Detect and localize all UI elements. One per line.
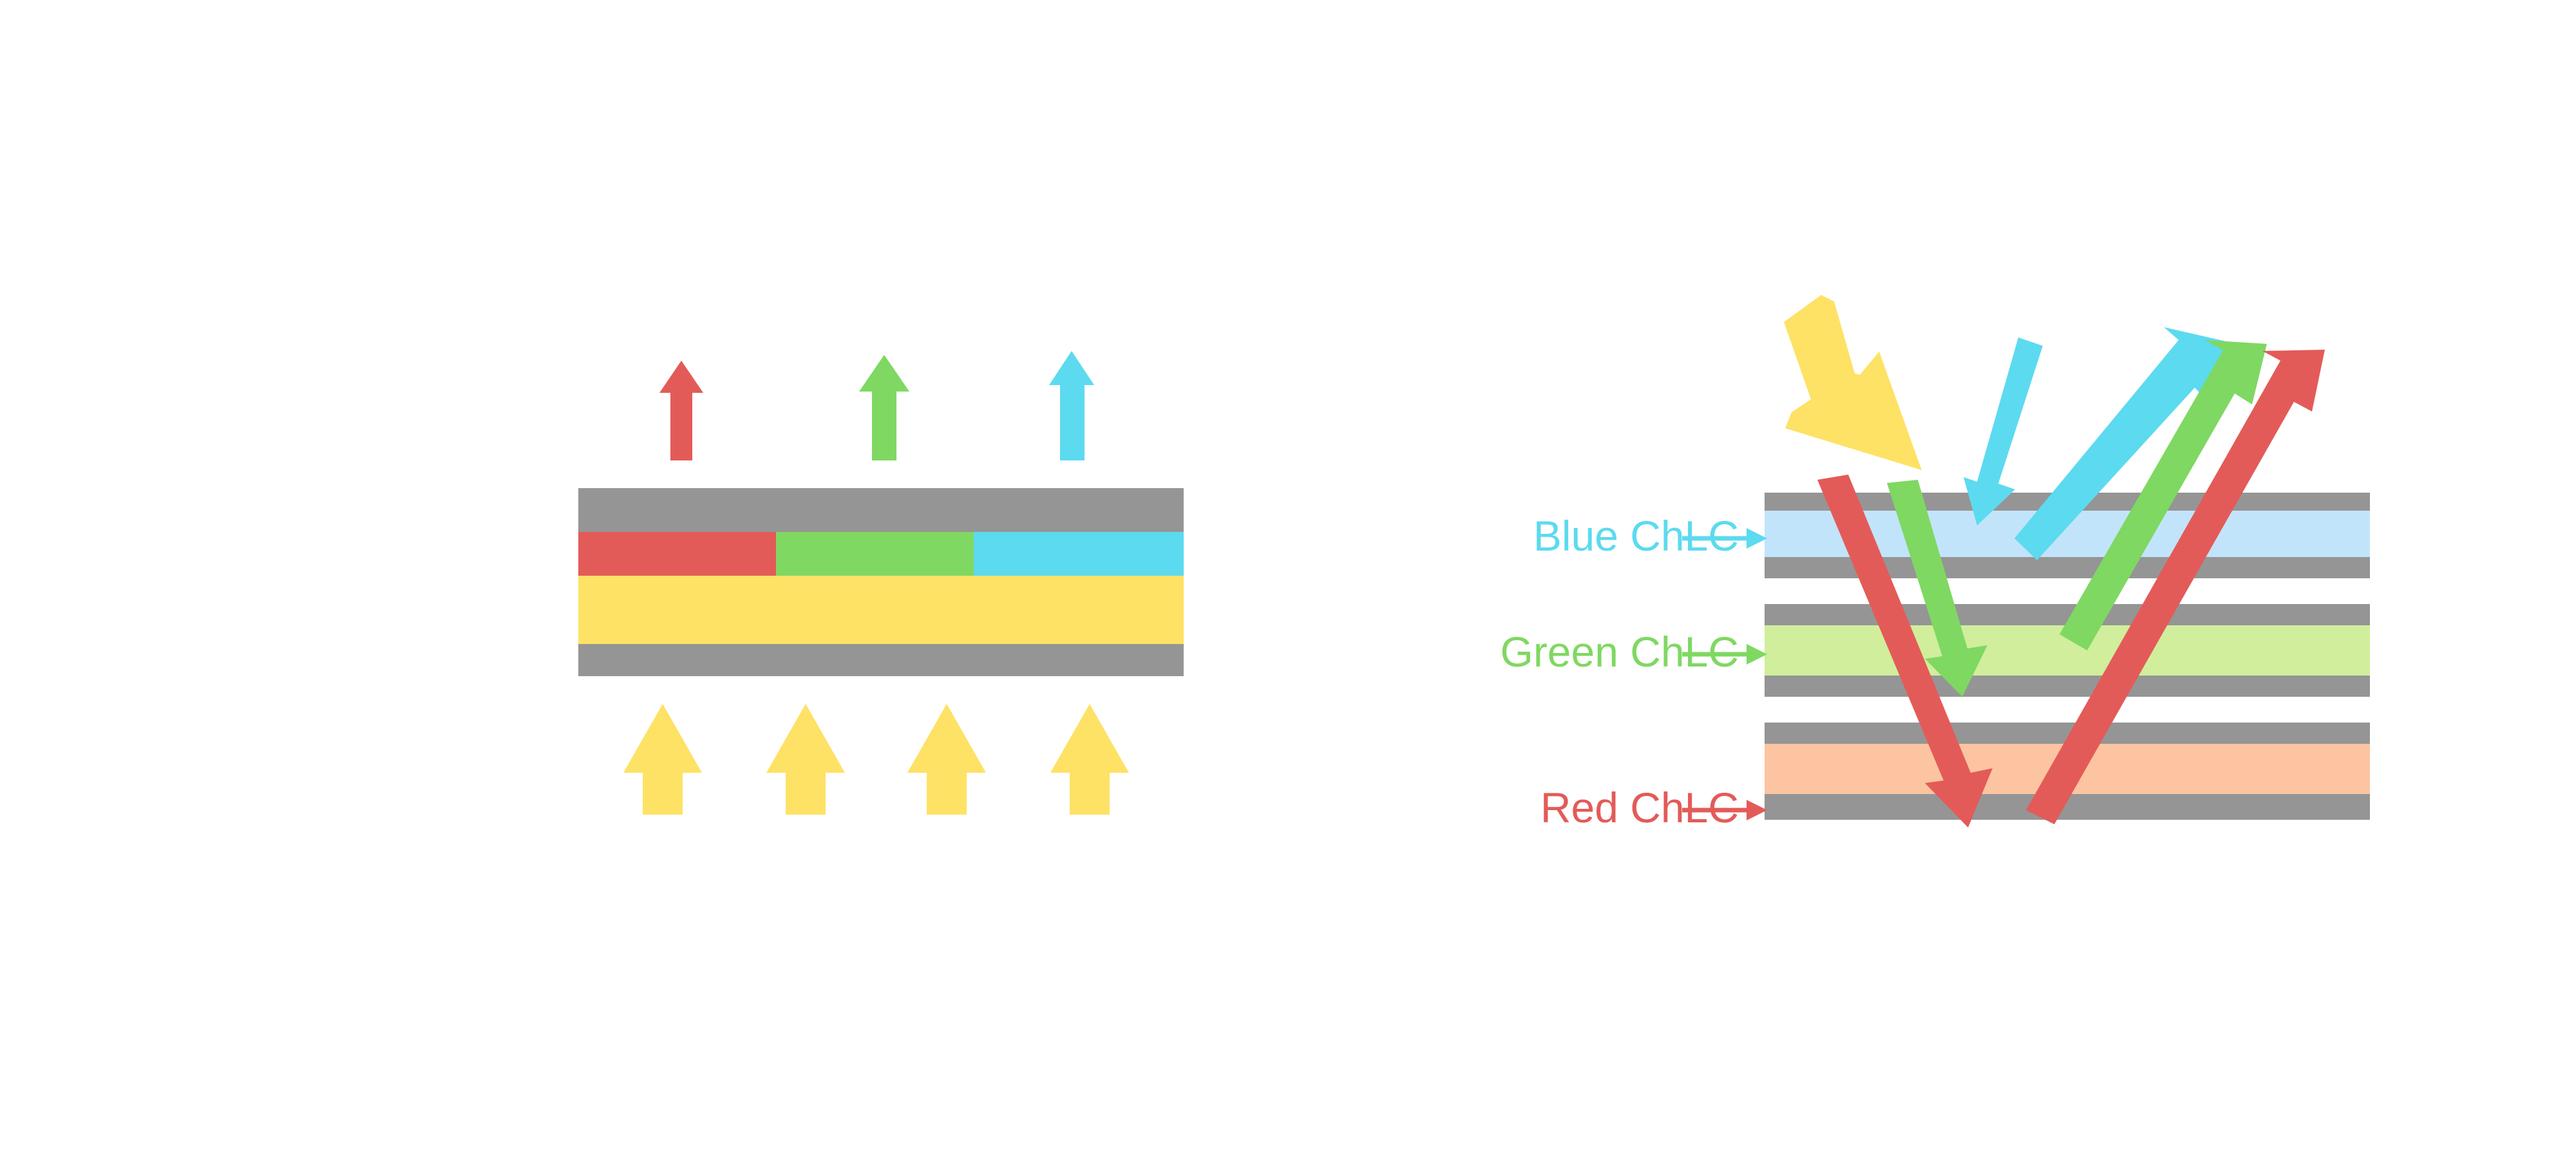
figure-canvas: Blue ChLC Green ChLC Red ChLC xyxy=(0,0,2576,1154)
green-chlc-label: Green ChLC xyxy=(1500,628,1739,676)
red-chlc-label: Red ChLC xyxy=(1540,784,1739,831)
chlc-layer-labels: Blue ChLC Green ChLC Red ChLC xyxy=(1500,512,1767,831)
green-chlc-cell xyxy=(1765,604,2370,697)
ambient-white-light-arrow xyxy=(1784,295,1922,470)
right-diagram: Blue ChLC Green ChLC Red ChLC xyxy=(0,0,2576,1154)
green-cell-bottom-electrode xyxy=(1765,676,2370,697)
blue-chlc-label: Blue ChLC xyxy=(1533,512,1739,560)
